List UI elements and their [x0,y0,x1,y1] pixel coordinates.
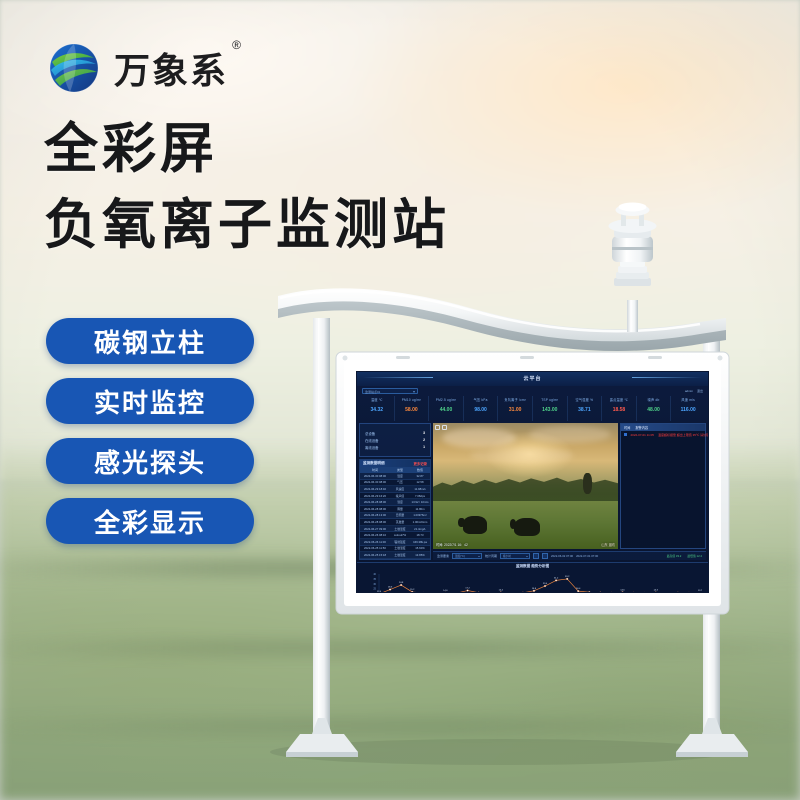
chart-point-label: 24.8 [399,582,404,584]
dashboard-title-bar: 云平台 [357,372,708,386]
status-value: 1 [423,445,425,450]
table-cell: 辐射强度 [390,540,410,544]
alarm-dot-icon [624,433,627,436]
table-cell: 32.87 [410,474,430,478]
chart-point[interactable] [400,584,402,586]
metric-value: 58.00 [395,405,429,416]
alarm-message: 温度超标报警 超出上限值 35℃ 请处理 [658,433,708,437]
metric-value: 18.58 [602,405,636,416]
dashboard-center: 时间: 2022/7/1 16：42 山东 潍坊 时间 报警内容 2022-07… [433,423,706,560]
table-row[interactable]: 2022-06-29 18:40风速度11.98m/s [360,486,430,493]
alarm-time: 2022-07-01 11:05 [631,433,654,437]
chart-point[interactable] [588,591,590,592]
alarm-column-time: 时间 [624,425,630,430]
chart-point-label: 13.7 [698,590,703,592]
user-name: admin [685,389,693,393]
table-cell: 风速度 [390,487,410,491]
dashboard-title: 云平台 [357,375,708,382]
table-cell: 18.73 [410,533,430,537]
ultrasonic-weather-sensor-icon [609,203,657,333]
metric-cell: 气压 kPa98.00 [464,396,499,421]
alarm-column-message: 报警内容 [635,425,648,430]
feature-pill-list: 碳钢立柱 实时监控 感光探头 全彩显示 [46,318,254,544]
metric-label: PM2.5 ug/m³ [429,396,463,405]
chart-point-label: 31.2 [554,577,559,579]
table-cell: 13.85% [410,553,430,557]
chart-line [379,579,700,592]
data-table: 监测数据明细 更多记录 时间 类型 数值 2022-06-30 08:00温度3… [359,459,431,560]
column-header: 类型 [390,468,410,472]
dashboard-body: 总设备3 在线设备2 离线设备1 监测数据明细 更多记录 时间 类型 数值 20… [357,421,708,562]
metric-value: 44.00 [429,405,463,416]
table-row[interactable]: 2022-06-30 08:00温度32.87 [360,473,430,480]
chart-title: 监测数据 趋势分析图 [357,564,708,569]
metric-value: 98.00 [464,405,498,416]
table-cell: 7.08dps [410,494,430,498]
chart-point-label: 14.3 [654,590,659,592]
table-cell: 15.60% [410,546,430,550]
alarm-panel: 时间 报警内容 2022-07-01 11:05 温度超标报警 超出上限值 35… [620,423,706,549]
table-row[interactable]: 2022-06-30 08:00气压12.58 [360,480,430,487]
alarm-row[interactable]: 2022-07-01 11:05 温度超标报警 超出上限值 35℃ 请处理 [621,431,705,438]
table-row[interactable]: 2022-06-28 08:00雨量11.80m [360,506,430,513]
chart-point-label: 14.4 [499,590,504,592]
table-cell: 2022-06-30 08:00 [360,474,390,478]
legend-min: 最低值 12.4 [687,554,702,558]
chart-point-label: 18.6 [388,587,393,589]
station-base-left [286,718,358,757]
time-range-end[interactable]: 2022-07-01 07:00 [576,554,598,558]
status-label: 离线设备 [365,445,379,450]
camera-feed[interactable]: 时间: 2022/7/1 16：42 山东 潍坊 [433,423,618,549]
globe-logo-icon [46,40,102,96]
camera-controls[interactable] [435,425,447,430]
table-row[interactable]: 2022-06-28 13:00日照量1.00976m² [360,513,430,520]
headline-line-1: 全彩屏 [44,118,450,182]
feature-pill-label: 碳钢立柱 [94,323,206,360]
table-row[interactable]: 2022-06-25 11:50土壤湿度15.60% [360,546,430,553]
status-value: 3 [423,431,425,436]
status-label: 在线设备 [365,438,379,443]
alarm-panel-header: 时间 报警内容 [621,424,705,431]
table-cell: 土壤湿度 [390,546,410,550]
table-cell: 2022-06-25 11:50 [360,546,390,550]
period-select-value: 按小时 [503,554,511,560]
trend-chart: 监测数据 趋势分析图 4035302520151012.406-0218.606… [357,562,708,592]
chart-canvas: 4035302520151012.406-0218.606-0324.806-0… [357,570,708,592]
legend-max: 最高值 33.2 [667,554,682,558]
metric-cell: 空气湿度 %38.71 [568,396,603,421]
feature-pill-full-color-display[interactable]: 全彩显示 [46,498,254,544]
table-cell: 日照量 [390,513,410,517]
table-cell: 2022-06-28 08:00 [360,520,390,524]
headline-block: 全彩屏 负氧离子监测站 [44,118,450,257]
metric-label: 空气湿度 % [568,396,602,405]
camera-timestamp: 时间: 2022/7/1 16：42 [436,542,468,547]
feature-pill-label: 实时监控 [94,383,206,420]
chevron-down-icon [413,391,415,393]
metric-cell: 噪声 db48.00 [637,396,672,421]
chart-legend: 最高值 33.2 最低值 12.4 [667,554,702,558]
table-row[interactable]: 2022-06-26 08:10co2oul7%18.73 [360,532,430,539]
chart-point-label: 12.4 [377,591,382,592]
fullscreen-icon[interactable] [435,425,440,430]
metric-strip: 温度 ℃34.32 PM10 ug/m³58.00 PM2.5 ug/m³44.… [357,395,708,421]
chart-point[interactable] [566,578,568,580]
time-range-start[interactable]: 2022-06-02 07:00 [551,554,573,558]
metric-label: 温度 ℃ [360,396,394,405]
table-cell: 2022-06-29 18:40 [360,487,390,491]
element-select[interactable]: 温度(℃) [452,553,482,559]
chevron-down-icon [526,556,528,557]
cloud [529,426,610,444]
metric-cell: 风速 m/s116.00 [671,396,705,421]
table-cell: 11.80m [410,507,430,511]
status-value: 2 [423,438,425,443]
table-cell: 2022-06-28 08:00 [360,507,390,511]
column-header: 时间 [360,468,390,472]
feature-pill-realtime-monitor[interactable]: 实时监控 [46,378,254,424]
feature-pill-label: 全彩显示 [94,503,206,540]
table-cell: 2022-06-30 08:00 [360,480,390,484]
metric-value: 34.32 [360,405,394,416]
station-select-value: 监测站点01 [365,389,380,395]
chevron-down-icon [478,556,480,557]
station-base-right [676,718,748,757]
registered-mark: ® [232,38,243,52]
status-row: 离线设备1 [365,445,425,450]
chart-point[interactable] [533,590,535,592]
chart-point[interactable] [389,589,391,591]
table-row[interactable]: 2022-06-28 08:00蒸发量1.00m/0mm [360,519,430,526]
chart-point[interactable] [467,590,469,592]
table-cell: 2022-06-27 09:00 [360,527,390,531]
table-row[interactable]: 2022-06-29 16:20噪声值7.08dps [360,493,430,500]
chart-point[interactable] [544,585,546,587]
camera-watermark: 山东 潍坊 [601,542,615,547]
brand-name-text: 万象系 [114,50,228,91]
table-row[interactable]: 2022-06-27 09:00土壤温度21.4mg/L [360,526,430,533]
metric-value: 31.00 [498,405,532,416]
chart-point-label: 17.2 [465,588,470,590]
table-cell: 2022-06-29 16:20 [360,494,390,498]
headline-line-2: 负氧离子监测站 [44,194,450,258]
metric-cell: 露点温度 ℃18.58 [602,396,637,421]
table-cell: 2022-06-26 08:10 [360,533,390,537]
table-row[interactable]: 2022-06-28 08:00湿度13.92 / 10m/s [360,499,430,506]
table-cell: 2022-06-26 11:00 [360,540,390,544]
metric-label: 露点温度 ℃ [602,396,636,405]
toolbar-label-period: 统计周期 [485,554,497,558]
station-post-left [313,318,330,734]
chart-toolbar: 监测要素 温度(℃) 统计周期 按小时 2022-06-02 07:00 202… [433,551,706,560]
metric-cell: TSP ug/m³143.00 [533,396,568,421]
y-axis-tick: 40 [373,573,376,576]
y-axis-tick: 30 [373,583,376,586]
table-cell: 2022-06-28 08:00 [360,500,390,504]
metric-label: TSP ug/m³ [533,396,567,405]
cow-silhouette [463,516,487,534]
y-axis-tick: 35 [373,578,376,581]
table-cell: 12.58 [410,480,430,484]
chart-point-label: 14.0 [443,590,448,592]
column-header: 数值 [410,468,430,472]
metric-label: 风速 m/s [671,396,705,405]
metric-cell: PM10 ug/m³58.00 [395,396,430,421]
chart-point-label: 14.6 [620,589,625,591]
table-cell: 土壤温度 [390,527,410,531]
calendar-icon[interactable] [533,553,539,559]
feature-pill-label: 感光探头 [94,443,206,480]
feature-pill-carbon-steel[interactable]: 碳钢立柱 [46,318,254,364]
table-cell: 1.00976m² [410,513,430,517]
table-cell: 2022-06-28 13:00 [360,513,390,517]
metric-value: 38.71 [568,405,602,416]
metric-value: 116.00 [671,405,705,416]
brand-name: 万象系® [114,42,228,94]
table-cell: 土壤温度 [390,553,410,557]
cow-silhouette [514,518,540,537]
table-cell: 蒸发量 [390,520,410,524]
status-row: 在线设备2 [365,438,425,443]
table-cell: 166.38k.pa [410,540,430,544]
table-row[interactable]: 2022-06-25 15:18土壤温度13.85% [360,552,430,559]
station-select[interactable]: 监测站点01 [362,388,418,394]
table-cell: 11.98m/s [410,487,430,491]
metric-label: 噪声 db [637,396,671,405]
metric-label: 负氧离子 /cm³ [498,396,532,405]
toolbar-label-element: 监测要素 [437,554,449,558]
chart-point-label: 15.2 [410,589,415,591]
metric-value: 48.00 [637,405,671,416]
period-select[interactable]: 按小时 [500,553,530,559]
more-records-link[interactable]: 更多记录 [413,461,427,466]
data-table-header: 监测数据明细 更多记录 [360,460,430,467]
table-cell: 噪声值 [390,494,410,498]
table-cell: 雨量 [390,507,410,511]
metric-cell: 负氧离子 /cm³31.00 [498,396,533,421]
table-cell: 1.00m/0mm [410,520,430,524]
animal-silhouette [583,473,592,493]
dashboard-sidebar: 总设备3 在线设备2 离线设备1 监测数据明细 更多记录 时间 类型 数值 20… [359,423,431,560]
data-table-body: 2022-06-30 08:00温度32.872022-06-30 08:00气… [360,473,430,559]
feature-pill-light-sensor[interactable]: 感光探头 [46,438,254,484]
table-cell: 温度 [390,474,410,478]
metric-cell: 温度 ℃34.32 [360,396,395,421]
status-label: 总设备 [365,431,375,436]
table-cell: 21.4mg/L [410,527,430,531]
metric-value: 143.00 [533,405,567,416]
chart-point-label: 33.2 [565,576,570,578]
table-row[interactable]: 2022-06-26 11:00辐射强度166.38k.pa [360,539,430,546]
data-table-title: 监测数据明细 [363,461,385,466]
metric-label: 气压 kPa [464,396,498,405]
table-cell: 气压 [390,480,410,484]
table-cell: co2oul7% [390,533,410,537]
metric-cell: PM2.5 ug/m³44.00 [429,396,464,421]
export-icon[interactable] [542,553,548,559]
chart-point-label: 16.4 [576,588,581,590]
chart-point[interactable] [577,590,579,592]
table-cell: 13.92 / 10m/s [410,500,430,504]
metric-label: PM10 ug/m³ [395,396,429,405]
chart-point[interactable] [411,591,413,592]
table-cell: 2022-06-25 15:18 [360,553,390,557]
logout-link[interactable]: 退出 [697,389,703,393]
table-cell: 湿度 [390,500,410,504]
snapshot-icon[interactable] [442,425,447,430]
user-area[interactable]: admin 退出 [685,389,703,393]
dashboard-subbar: 监测站点01 admin 退出 [357,386,708,395]
element-select-value: 温度(℃) [455,554,465,560]
station-canopy [278,288,726,351]
device-status-box: 总设备3 在线设备2 离线设备1 [359,423,431,457]
status-row: 总设备3 [365,431,425,436]
cloud-platform-dashboard: 云平台 监测站点01 admin 退出 温度 ℃34.32 PM10 ug/m³… [357,372,708,592]
chart-point[interactable] [555,579,557,581]
brand-logo: 万象系® [46,40,228,96]
